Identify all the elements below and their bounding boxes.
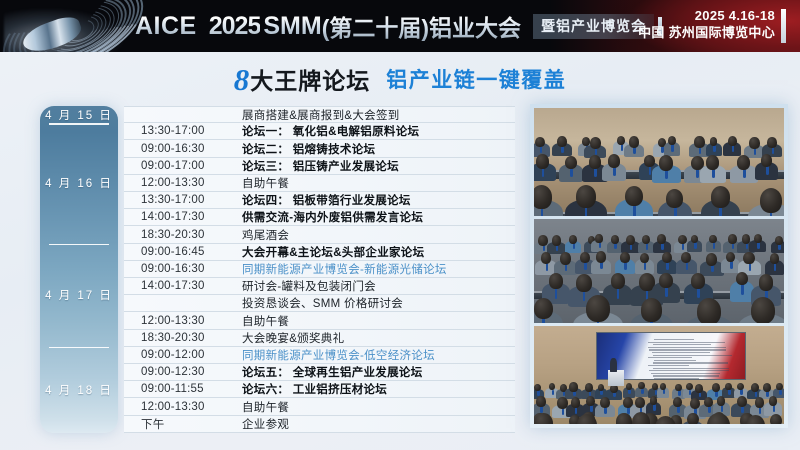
- schedule-row: 18:30-20:30鸡尾酒会: [124, 226, 515, 243]
- schedule-row-event: 同期新能源产业博览会-新能源光储论坛: [242, 261, 447, 277]
- schedule-row-event: 供需交流-海内外废铝供需发言论坛: [242, 209, 423, 225]
- event-date: 2025 4.16-18: [638, 7, 775, 24]
- schedule-row-event: 大会开幕&主论坛&头部企业家论坛: [242, 244, 424, 260]
- schedule-row-time: 12:00-13:30: [124, 401, 242, 413]
- schedule-row: 09:00-17:00论坛三： 铝压铸产业发展论坛: [124, 158, 515, 175]
- schedule-row-time: 09:00-16:30: [124, 143, 242, 155]
- forum-count-number: 8: [234, 64, 250, 95]
- page-title-main: 大王牌论坛: [250, 62, 370, 96]
- schedule-row-time: 14:00-17:30: [124, 211, 242, 223]
- schedule-row-time: 18:30-20:30: [124, 332, 242, 344]
- schedule-row-event: 同期新能源产业博览会-低空经济论坛: [242, 347, 435, 363]
- schedule-row: 14:00-17:30供需交流-海内外废铝供需发言论坛: [124, 209, 515, 226]
- schedule-row: 09:00-12:30论坛五： 全球再生铝产业发展论坛: [124, 364, 515, 381]
- schedule-row-time: 09:00-16:45: [124, 246, 242, 258]
- schedule-row: 09:00-16:30同期新能源产业博览会-新能源光储论坛: [124, 261, 515, 278]
- conference-audience-photo-2: [534, 219, 784, 323]
- conference-hall-stage-photo-3: [534, 326, 784, 424]
- schedule-row: 12:00-13:30自助午餐: [124, 398, 515, 415]
- schedule-date-label: 4 月 15 日: [40, 106, 118, 123]
- schedule-row-event: 自助午餐: [242, 175, 289, 191]
- schedule-row-time: 下午: [124, 416, 242, 432]
- schedule-row-time: 18:30-20:30: [124, 229, 242, 241]
- schedule-date-label: 4 月 16 日: [40, 123, 118, 243]
- schedule-row: 09:00-16:45大会开幕&主论坛&头部企业家论坛: [124, 244, 515, 261]
- schedule-row-event: 鸡尾酒会: [242, 227, 289, 243]
- schedule-row-event: 企业参观: [242, 416, 289, 432]
- brand-year: 2025: [209, 12, 261, 41]
- photo-gallery: [530, 104, 788, 428]
- schedule-row: 09:00-12:00同期新能源产业博览会-低空经济论坛: [124, 347, 515, 364]
- schedule-row: 09:00-11:55论坛六： 工业铝挤压材论坛: [124, 381, 515, 398]
- schedule-row-event: 研讨会-罐料及包装闭门会: [242, 278, 376, 294]
- schedule-table: 4 月 15 日4 月 16 日4 月 17 日4 月 18 日 展商搭建&展商…: [40, 106, 515, 433]
- schedule-row-event: 论坛六： 工业铝挤压材论坛: [242, 381, 387, 397]
- schedule-row-event: 论坛五： 全球再生铝产业发展论坛: [242, 364, 423, 380]
- event-venue: 中国 苏州国际博览中心: [638, 24, 775, 42]
- schedule-row-time: 13:30-17:00: [124, 125, 242, 137]
- schedule-row-time: 12:00-13:30: [124, 315, 242, 327]
- schedule-row-time: 14:00-17:30: [124, 280, 242, 292]
- schedule-row-event: 论坛一： 氧化铝&电解铝原料论坛: [242, 123, 419, 139]
- schedule-row-event: 大会晚宴&颁奖典礼: [242, 330, 344, 346]
- schedule-rows: 展商搭建&展商报到&大会签到13:30-17:00论坛一： 氧化铝&电解铝原料论…: [124, 106, 515, 433]
- schedule-row: 09:00-16:30论坛二： 铝熔铸技术论坛: [124, 140, 515, 157]
- schedule-row-event: 论坛二： 铝熔铸技术论坛: [242, 141, 375, 157]
- schedule-date-label: 4 月 18 日: [40, 347, 118, 433]
- schedule-row-event: 论坛三： 铝压铸产业发展论坛: [242, 158, 399, 174]
- schedule-row: 12:00-13:30自助午餐: [124, 175, 515, 192]
- schedule-row-time: 13:30-17:00: [124, 194, 242, 206]
- schedule-row: 下午企业参观: [124, 416, 515, 433]
- schedule-row-time: 12:00-13:30: [124, 177, 242, 189]
- schedule-row-event: 展商搭建&展商报到&大会签到: [242, 107, 400, 123]
- brand-smm: SMM: [263, 12, 321, 41]
- brand-subtitle: 暨铝产业博览会: [533, 14, 654, 39]
- schedule-row: 18:30-20:30大会晚宴&颁奖典礼: [124, 330, 515, 347]
- schedule-row-time: 09:00-12:30: [124, 366, 242, 378]
- schedule-row: 12:00-13:30自助午餐: [124, 312, 515, 329]
- schedule-row-time: 09:00-11:55: [124, 383, 242, 395]
- schedule-date-column: 4 月 15 日4 月 16 日4 月 17 日4 月 18 日: [40, 106, 118, 433]
- schedule-row-time: 09:00-12:00: [124, 349, 242, 361]
- schedule-row: 展商搭建&展商报到&大会签到: [124, 106, 515, 123]
- schedule-row-event: 自助午餐: [242, 313, 289, 329]
- schedule-row-time: 09:00-16:30: [124, 263, 242, 275]
- conference-audience-photo-1: [534, 108, 784, 216]
- brand-lockup: AICE 2025 SMM (第二十届)铝业大会 暨铝产业博览会: [135, 11, 662, 41]
- brand-chinese-title: (第二十届)铝业大会: [322, 9, 521, 43]
- schedule-row-event: 论坛四： 铝板带箔行业发展论坛: [242, 192, 411, 208]
- brand-aice: AICE: [135, 12, 197, 41]
- schedule-row: 13:30-17:00论坛四： 铝板带箔行业发展论坛: [124, 192, 515, 209]
- schedule-row-event: 自助午餐: [242, 399, 289, 415]
- page-header: AICE 2025 SMM (第二十届)铝业大会 暨铝产业博览会 2025 4.…: [0, 0, 800, 52]
- schedule-date-label: 4 月 17 日: [40, 244, 118, 347]
- schedule-row-event: 投资恳谈会、SMM 价格研讨会: [242, 295, 403, 311]
- schedule-row: 14:00-17:30研讨会-罐料及包装闭门会: [124, 278, 515, 295]
- schedule-row-time: 09:00-17:00: [124, 160, 242, 172]
- schedule-row: 投资恳谈会、SMM 价格研讨会: [124, 295, 515, 312]
- page-title-tagline: 铝产业链一键覆盖: [386, 64, 566, 94]
- schedule-row: 13:30-17:00论坛一： 氧化铝&电解铝原料论坛: [124, 123, 515, 140]
- page-title: 8 大王牌论坛 铝产业链一键覆盖: [0, 62, 800, 96]
- header-event-info: 2025 4.16-18 中国 苏州国际博览中心: [638, 7, 786, 43]
- header-accent-bar: [781, 9, 786, 43]
